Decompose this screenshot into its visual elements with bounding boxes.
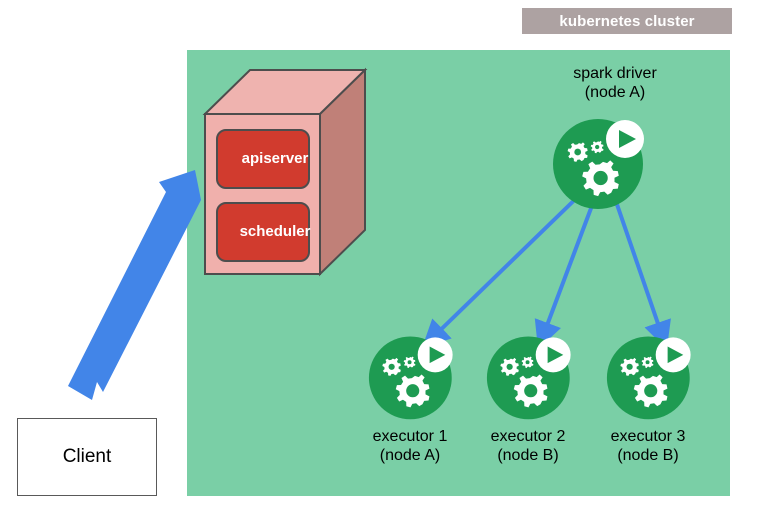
executor-1-node[interactable]	[368, 330, 460, 422]
play-icon	[606, 120, 644, 158]
play-icon	[656, 337, 691, 372]
client-label: Client	[63, 446, 112, 468]
executor-2-node[interactable]	[486, 330, 578, 422]
cube-shape-icon	[200, 62, 370, 277]
play-icon	[536, 337, 571, 372]
executor-2-node-icon	[486, 330, 578, 422]
spark-submit-arrow	[55, 160, 215, 410]
executor-3-node[interactable]	[606, 330, 698, 422]
spark-driver-node[interactable]	[552, 112, 652, 212]
driver-node-icon	[552, 112, 652, 212]
spark-submit-arrow-icon	[55, 160, 215, 410]
client-box[interactable]: Client	[17, 418, 157, 496]
kubernetes-cluster-label: kubernetes cluster	[522, 8, 732, 34]
play-icon	[418, 337, 453, 372]
executor-1-node-icon	[368, 330, 460, 422]
control-plane-cube: apiserver scheduler	[200, 62, 370, 277]
driver-caption: spark driver (node A)	[545, 64, 685, 102]
executor-2-caption: executor 2 (node B)	[458, 427, 598, 465]
executor-3-caption: executor 3 (node B)	[578, 427, 718, 465]
executor-3-node-icon	[606, 330, 698, 422]
